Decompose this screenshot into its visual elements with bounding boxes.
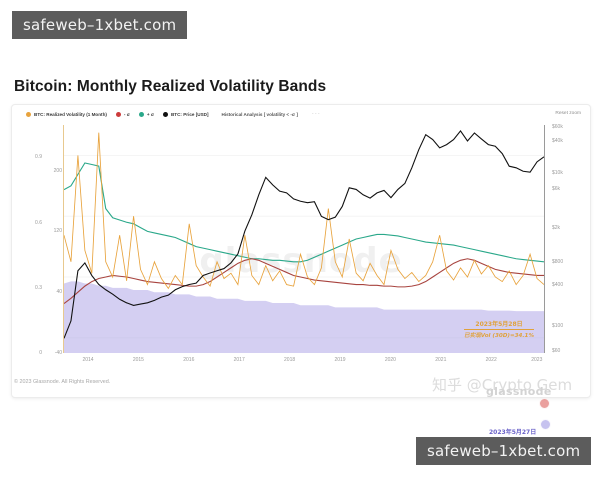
axis-tick-year-2023: 2023 xyxy=(531,357,542,363)
legend-label-plus-sigma: + σ xyxy=(147,112,154,117)
axis-tick-price-40k: $40k xyxy=(552,138,563,144)
reset-zoom-button[interactable]: Reset zoom xyxy=(555,111,581,116)
realized-vol-callout: 2023年5月28日 已实现Vol (30D)=34.1% xyxy=(464,319,534,339)
axis-tick-year-2017: 2017 xyxy=(234,357,245,363)
axis-tick-vol-200: 200 xyxy=(54,168,62,174)
glassnode-logo: glassnode xyxy=(486,385,552,398)
bottom-watermark-overlay: safeweb–1xbet.com xyxy=(416,437,591,465)
legend-swatch-plus-sigma xyxy=(139,112,144,117)
axis-tick-price-100: $100 xyxy=(552,323,563,329)
copyright-text: © 2023 Glassnode. All Rights Reserved. xyxy=(14,379,110,385)
axis-tick-price-6k: $6k xyxy=(552,186,560,192)
axis-tick-vol-m40: -40 xyxy=(55,350,62,356)
axis-tick-freq-09: 0.9 xyxy=(35,154,42,160)
top-watermark-overlay: safeweb–1xbet.com xyxy=(12,11,187,39)
axis-tick-vol-40: 40 xyxy=(56,289,62,295)
legend-item-realized-volatility[interactable]: BTC: Realized Volatility (1 Month) xyxy=(26,112,107,117)
axis-tick-price-10k: $10k xyxy=(552,170,563,176)
realized-vol-point-marker[interactable] xyxy=(539,398,550,409)
chart-legend: BTC: Realized Volatility (1 Month) - σ +… xyxy=(26,111,321,117)
axis-tick-year-2018: 2018 xyxy=(284,357,295,363)
axis-tick-price-60k: $60k xyxy=(552,124,563,130)
legend-item-plus-sigma[interactable]: + σ xyxy=(139,112,154,117)
legend-label-realized-volatility: BTC: Realized Volatility (1 Month) xyxy=(34,112,107,117)
axis-tick-year-2016: 2016 xyxy=(183,357,194,363)
axis-tick-price-400: $400 xyxy=(552,282,563,288)
axis-tick-year-2022: 2022 xyxy=(486,357,497,363)
legend-item-minus-sigma[interactable]: - σ xyxy=(116,112,130,117)
series-plus-sigma xyxy=(64,163,544,262)
axis-right-price: $60 $100 $400 $800 $2k $6k $10k $40k $60… xyxy=(552,125,592,353)
axis-tick-year-2021: 2021 xyxy=(435,357,446,363)
legend-item-btc-price[interactable]: BTC: Price [USD] xyxy=(163,112,209,117)
axis-line-right xyxy=(544,125,545,353)
frequency-callout-date: 2023年5月27日 xyxy=(489,427,536,436)
axis-tick-vol-120: 120 xyxy=(54,228,62,234)
overflow-menu-icon[interactable]: ··· xyxy=(312,111,321,117)
legend-label-btc-price: BTC: Price [USD] xyxy=(171,112,209,117)
axis-left-inner: -40 40 120 200 xyxy=(42,125,62,353)
axis-tick-freq-06: 0.6 xyxy=(35,220,42,226)
axis-tick-freq-03: 0.3 xyxy=(35,285,42,291)
realized-vol-callout-rule xyxy=(464,329,534,330)
page-title: Bitcoin: Monthly Realized Volatility Ban… xyxy=(14,78,326,96)
legend-swatch-realized-volatility xyxy=(26,112,31,117)
axis-left-outer: 0 0.3 0.6 0.9 xyxy=(16,125,42,353)
series-frequency-band xyxy=(64,281,544,353)
chart-card: BTC: Realized Volatility (1 Month) - σ +… xyxy=(11,104,591,398)
frequency-point-marker[interactable] xyxy=(540,419,551,430)
axis-x-years: 2014 2015 2016 2017 2018 2019 2020 2021 … xyxy=(64,357,544,369)
axis-tick-price-800: $800 xyxy=(552,259,563,265)
axis-tick-year-2015: 2015 xyxy=(133,357,144,363)
axis-tick-price-2k: $2k xyxy=(552,225,560,231)
legend-swatch-btc-price xyxy=(163,112,168,117)
legend-swatch-minus-sigma xyxy=(116,112,121,117)
realized-vol-callout-date: 2023年5月28日 xyxy=(464,319,534,328)
series-realized-volatility xyxy=(64,133,544,289)
realized-vol-callout-value: 已实现Vol (30D)=34.1% xyxy=(464,331,534,339)
axis-tick-year-2020: 2020 xyxy=(385,357,396,363)
axis-tick-price-60: $60 xyxy=(552,348,560,354)
historical-analysis-label: Historical Analysis [ volatility < -σ ] xyxy=(222,112,298,117)
axis-tick-year-2019: 2019 xyxy=(334,357,345,363)
axis-tick-year-2014: 2014 xyxy=(82,357,93,363)
legend-label-minus-sigma: - σ xyxy=(124,112,130,117)
